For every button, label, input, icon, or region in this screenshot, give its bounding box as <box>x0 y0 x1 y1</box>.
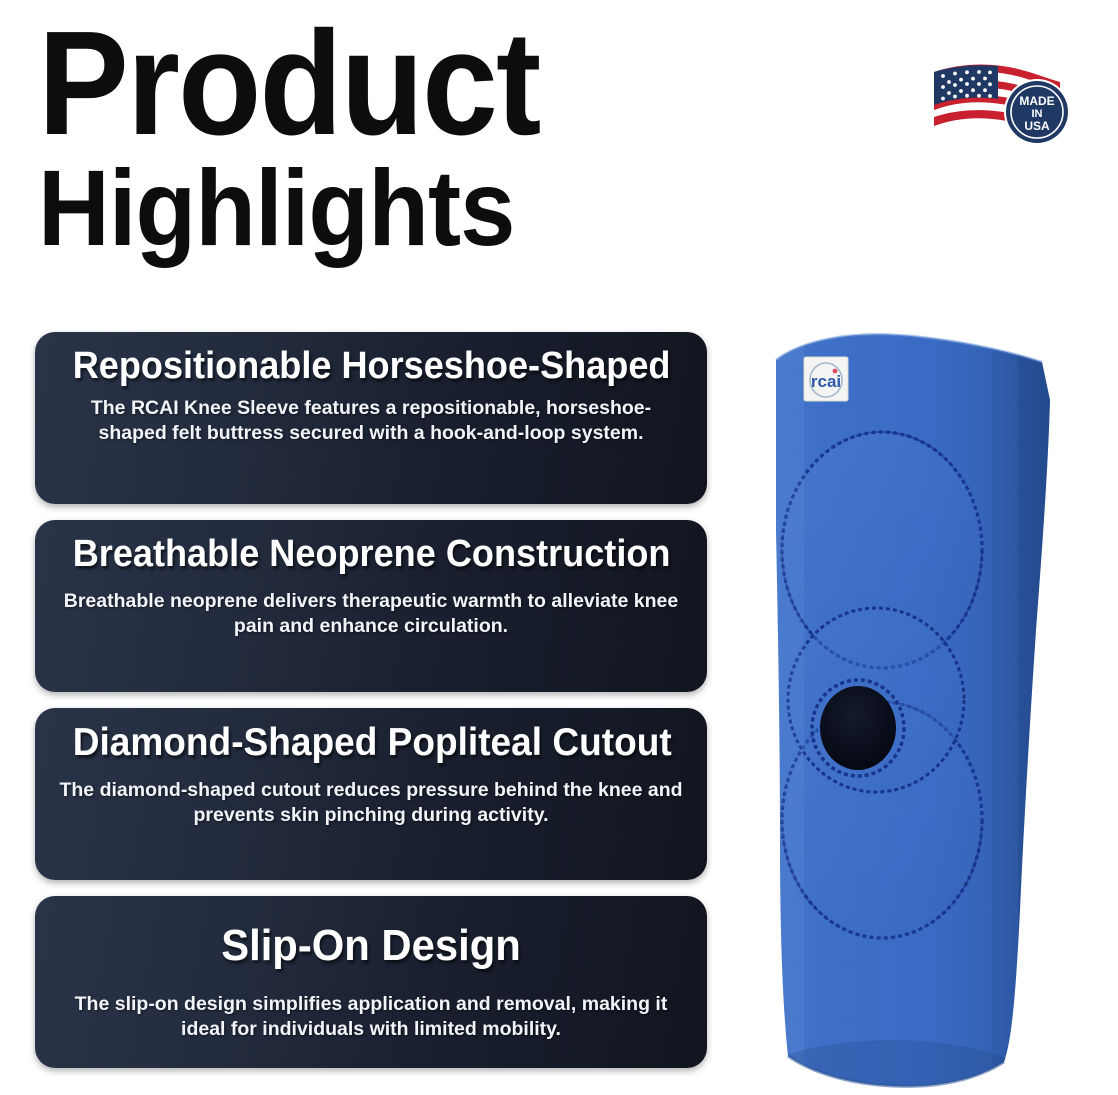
page-title-line-1: Product <box>38 16 682 152</box>
badge-line-1: MADE <box>1019 94 1054 108</box>
highlights-list: Repositionable Horseshoe-Shaped The RCAI… <box>35 332 707 1084</box>
highlight-body: The diamond-shaped cutout reduces pressu… <box>57 778 685 829</box>
highlight-title: Slip-On Design <box>73 922 670 970</box>
made-in-usa-icon: MADE IN USA <box>928 54 1078 154</box>
rcai-label-text: rcai <box>811 372 841 391</box>
highlight-body: Breathable neoprene delivers therapeutic… <box>57 589 685 640</box>
made-in-usa-seal-icon: MADE IN USA <box>1004 79 1070 145</box>
page-title-line-2: Highlights <box>38 154 682 262</box>
highlight-card-1[interactable]: Repositionable Horseshoe-Shaped The RCAI… <box>35 332 707 504</box>
made-in-usa-badge: MADE IN USA <box>928 54 1078 154</box>
highlight-body: The slip-on design simplifies applicatio… <box>57 992 685 1043</box>
knee-sleeve-illustration: rcai <box>742 300 1062 1090</box>
rcai-label-tag: rcai <box>804 357 848 401</box>
product-image-knee-sleeve: rcai <box>742 300 1062 1090</box>
highlight-title: Repositionable Horseshoe-Shaped <box>73 346 670 387</box>
highlight-card-4[interactable]: Slip-On Design The slip-on design simpli… <box>35 896 707 1068</box>
highlight-card-2[interactable]: Breathable Neoprene Construction Breatha… <box>35 520 707 692</box>
patella-hole <box>820 686 896 770</box>
highlight-card-3[interactable]: Diamond-Shaped Popliteal Cutout The diam… <box>35 708 707 880</box>
highlight-title: Breathable Neoprene Construction <box>73 534 670 575</box>
page-header: Product Highlights <box>38 16 738 262</box>
highlight-body: The RCAI Knee Sleeve features a repositi… <box>57 396 685 447</box>
badge-line-3: USA <box>1024 119 1050 133</box>
rcai-dot-icon <box>833 369 838 374</box>
highlight-title: Diamond-Shaped Popliteal Cutout <box>73 722 670 764</box>
